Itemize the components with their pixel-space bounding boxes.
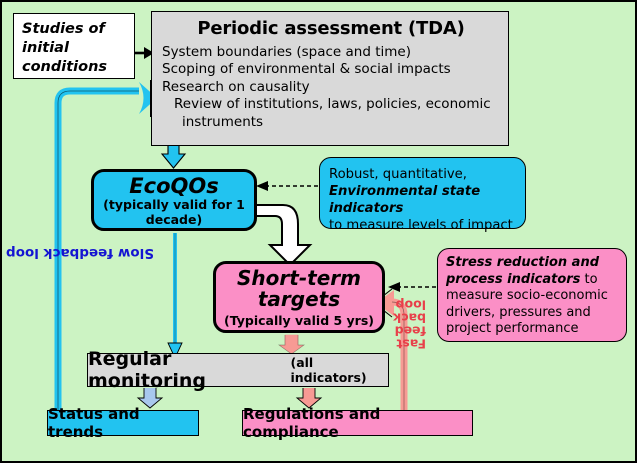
- environmental-state-indicators-box[interactable]: Robust, quantitative, Environmental stat…: [319, 157, 526, 229]
- stress-line-4: drivers, pressures and: [446, 305, 618, 322]
- targets-sub: (Typically valid 5 yrs): [216, 313, 382, 328]
- env-indicators-emphasis: Environmental state indicators: [329, 183, 516, 217]
- env-indicators-to-ecoqos-arrow: [256, 181, 318, 191]
- stress-reduction-indicators-box[interactable]: Stress reduction and process indicators …: [437, 248, 627, 342]
- tda-bullet-1: System boundaries (space and time): [162, 44, 500, 61]
- regular-monitoring-box[interactable]: Regular monitoring (all indicators): [87, 353, 389, 387]
- targets-title-line-1: Short-term: [216, 268, 382, 289]
- slow-feedback-loop-label: Slow feedback loop: [6, 245, 154, 261]
- monitoring-sub-label: (all indicators): [290, 355, 388, 385]
- regulations-and-compliance-box[interactable]: Regulations and compliance: [242, 410, 473, 436]
- stress-emphasis: Stress reduction and process indicators: [446, 255, 599, 287]
- ecoqos-sub-line-2: decade): [94, 213, 254, 227]
- diagram-canvas: Studies of initial conditions Periodic a…: [0, 0, 637, 463]
- stress-to-targets-arrow: [388, 282, 436, 292]
- fast-feedback-loop-label: Fast feed back loop: [410, 298, 426, 351]
- tda-bullet-4: Review of institutions, laws, policies, …: [162, 96, 500, 113]
- studies-line-2: initial: [22, 39, 126, 58]
- tda-to-ecoqos-arrow: [162, 146, 185, 169]
- stress-tail: to: [580, 272, 597, 287]
- tda-bullet-4-cont: instruments: [162, 114, 500, 131]
- env-indicators-line-3: to measure levels of impact: [329, 217, 516, 234]
- targets-title-line-2: targets: [216, 289, 382, 310]
- ecoqos-box[interactable]: EcoQOs (typically valid for 1 decade): [91, 169, 257, 231]
- tda-title: Periodic assessment (TDA): [162, 18, 500, 39]
- tda-bullet-2: Scoping of environmental & social impact…: [162, 61, 500, 78]
- short-term-targets-box[interactable]: Short-term targets (Typically valid 5 yr…: [213, 261, 385, 333]
- periodic-assessment-tda-box[interactable]: Periodic assessment (TDA) System boundar…: [151, 11, 509, 146]
- stress-line-5: project performance: [446, 321, 618, 338]
- ecoqos-sub-line-1: (typically valid for 1: [94, 198, 254, 212]
- studies-line-1: Studies of: [22, 20, 126, 39]
- stress-body: Stress reduction and process indicators …: [446, 255, 618, 288]
- monitoring-main-label: Regular monitoring: [88, 348, 284, 392]
- studies-of-initial-conditions-box[interactable]: Studies of initial conditions: [13, 13, 135, 79]
- status-and-trends-label: Status and trends: [48, 405, 198, 441]
- studies-line-3: conditions: [22, 58, 126, 77]
- tda-bullet-3: Research on causality: [162, 79, 500, 96]
- ecoqos-to-monitoring-arrow: [168, 233, 182, 358]
- regulations-and-compliance-label: Regulations and compliance: [243, 405, 472, 441]
- status-and-trends-box[interactable]: Status and trends: [47, 410, 199, 436]
- stress-line-3: measure socio-economic: [446, 288, 618, 305]
- env-indicators-line-1: Robust, quantitative,: [329, 166, 516, 183]
- ecoqos-title: EcoQOs: [94, 175, 254, 197]
